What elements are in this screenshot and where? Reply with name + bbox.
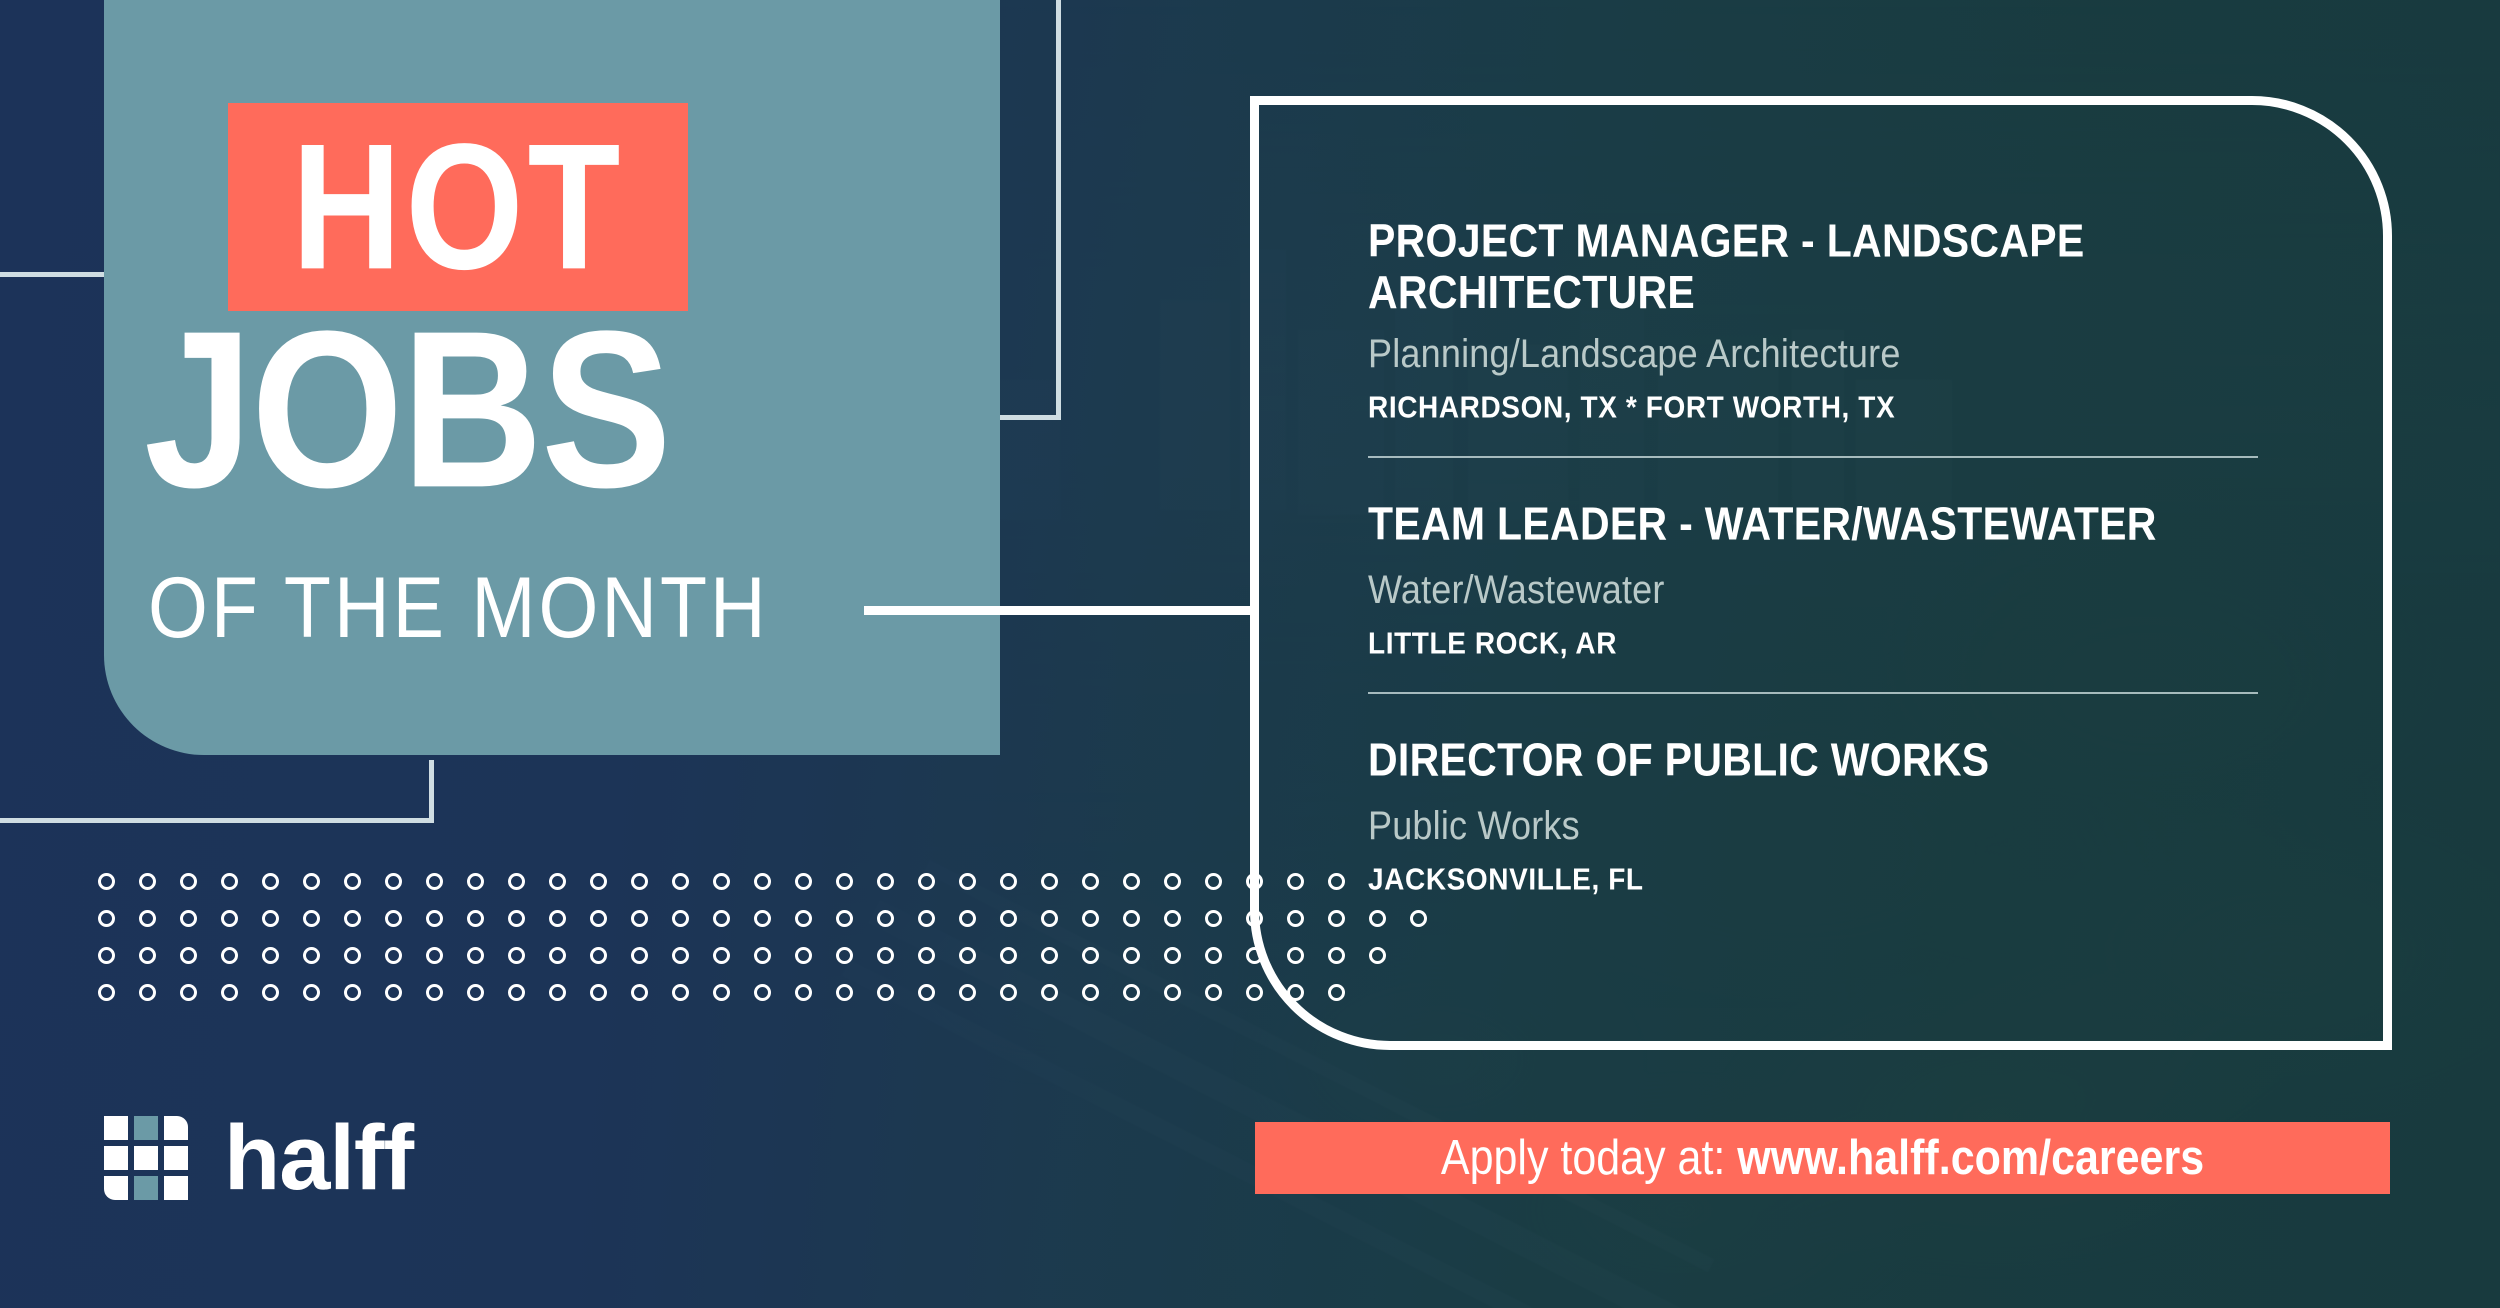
halff-grid-logo-icon [104,1116,188,1200]
decor-dot [918,910,935,927]
decor-dot [180,947,197,964]
decor-dot [590,910,607,927]
decor-dot [467,873,484,890]
decor-dot [221,873,238,890]
decor-dot [344,947,361,964]
decor-dot [508,947,525,964]
decor-dot [1246,984,1263,1001]
decor-dot [262,984,279,1001]
decor-dot [1205,947,1222,964]
job-department: Water/Wastewater [1368,570,2308,610]
apply-cta-text: Apply today at: www.halff.com/careers [1441,1133,2204,1182]
decor-dot [139,947,156,964]
decor-dot [139,910,156,927]
decor-dot [508,984,525,1001]
decor-dot [221,947,238,964]
decor-dot [1123,984,1140,1001]
job-listing-item[interactable]: TEAM LEADER - WATER/WASTEWATER Water/Was… [1368,498,2308,656]
decor-dot [631,947,648,964]
job-location: LITTLE ROCK, AR [1368,628,2308,659]
decor-dot [385,947,402,964]
decor-dot [918,873,935,890]
decor-dot [836,947,853,964]
job-listing-item[interactable]: DIRECTOR OF PUBLIC WORKS Public Works JA… [1368,734,2308,892]
decor-dot [1041,910,1058,927]
decor-dot [1164,873,1181,890]
hot-badge: HOT [228,103,688,311]
decor-dot [877,984,894,1001]
decor-dot [672,910,689,927]
decor-dot [426,947,443,964]
decor-dot [713,984,730,1001]
decor-dot [754,873,771,890]
decor-dot [549,910,566,927]
hot-jobs-poster: HOT JOBS OF THE MONTH PROJECT MANAGER - … [0,0,2500,1308]
decor-dot [1205,873,1222,890]
job-listing-item[interactable]: PROJECT MANAGER - LANDSCAPE ARCHITECTURE… [1368,215,2308,420]
decor-dot [344,984,361,1001]
decor-dot [1082,910,1099,927]
decor-dot [754,910,771,927]
decor-dot [836,910,853,927]
decor-dot [672,873,689,890]
apply-cta-prefix: Apply today at: [1441,1130,1737,1185]
decor-dot [262,910,279,927]
decor-line-top-right-h [1000,415,1061,420]
decor-dot [590,873,607,890]
job-department: Planning/Landscape Architecture [1368,334,2308,374]
decor-dot [549,873,566,890]
decor-line-top-right-v [1056,0,1061,420]
decor-dot [180,910,197,927]
decor-dot [959,873,976,890]
decor-dot [98,873,115,890]
decor-dot [959,947,976,964]
decor-dot [1205,984,1222,1001]
decor-dot-row [98,984,1451,1001]
decor-dot [672,947,689,964]
decor-dot-row [98,947,1451,964]
decor-dot [1123,873,1140,890]
decor-dot [98,984,115,1001]
decor-line-left-top [0,272,104,277]
decor-dot [98,947,115,964]
decor-dot [631,873,648,890]
decor-dot [508,873,525,890]
decor-dot [959,910,976,927]
decor-dot-row [98,873,1451,890]
job-listings: PROJECT MANAGER - LANDSCAPE ARCHITECTURE… [1368,215,2308,892]
decor-connector-line [864,606,1254,615]
decor-dot [549,947,566,964]
decor-dot [467,984,484,1001]
decor-dot [590,984,607,1001]
job-title: DIRECTOR OF PUBLIC WORKS [1368,734,2308,786]
decor-dot [713,947,730,964]
decor-dot [303,873,320,890]
decor-dot [180,873,197,890]
decor-dot [1082,947,1099,964]
decor-dot-row [98,910,1451,927]
job-title: TEAM LEADER - WATER/WASTEWATER [1368,498,2308,550]
decor-dot [713,910,730,927]
apply-cta-banner[interactable]: Apply today at: www.halff.com/careers [1255,1122,2390,1194]
decor-dot [836,984,853,1001]
job-location: JACKSONVILLE, FL [1368,864,2308,895]
decor-dot [1000,910,1017,927]
decor-dot [1164,984,1181,1001]
decor-dot [221,984,238,1001]
hot-label: HOT [292,117,625,296]
decor-dot [262,947,279,964]
decor-dot [385,873,402,890]
decor-dot [918,947,935,964]
halff-logo[interactable]: halff [104,1112,413,1204]
decor-dot [877,873,894,890]
decor-line-left-bottom-h [0,818,434,823]
decor-dot [139,984,156,1001]
decor-dot [467,910,484,927]
decor-dot [877,910,894,927]
decor-dot [1082,984,1099,1001]
decor-dot [385,984,402,1001]
decor-dot [959,984,976,1001]
decor-dot [426,910,443,927]
apply-cta-url: www.halff.com/careers [1737,1130,2204,1185]
decor-dot [754,947,771,964]
decor-dot [918,984,935,1001]
decor-dot [1000,947,1017,964]
job-department: Public Works [1368,806,2308,846]
decor-dot [549,984,566,1001]
decor-dot [1000,873,1017,890]
decor-dot [1041,984,1058,1001]
decor-dot [1164,947,1181,964]
decor-dot [1041,947,1058,964]
decor-dot [385,910,402,927]
decor-dot [508,910,525,927]
job-location: RICHARDSON, TX * FORT WORTH, TX [1368,392,2308,423]
decor-dot [1164,910,1181,927]
decor-dot [426,984,443,1001]
decor-dot [1082,873,1099,890]
decor-dot [1123,910,1140,927]
decor-dot [590,947,607,964]
decor-dot [795,947,812,964]
decor-dot [795,984,812,1001]
decor-dot [836,873,853,890]
job-separator [1368,456,2258,458]
decor-dot-grid [98,873,1451,1021]
decor-dot [1041,873,1058,890]
decor-dot [344,910,361,927]
decor-dot [262,873,279,890]
decor-dot [631,984,648,1001]
decor-dot [754,984,771,1001]
decor-line-left-bottom-v [429,760,434,823]
decor-dot [303,947,320,964]
decor-dot [221,910,238,927]
decor-dot [426,873,443,890]
decor-dot [877,947,894,964]
halff-wordmark: halff [224,1112,413,1204]
job-separator [1368,692,2258,694]
decor-dot [344,873,361,890]
decor-dot [180,984,197,1001]
of-the-month-label: OF THE MONTH [148,565,769,651]
decor-dot [1000,984,1017,1001]
decor-dot [303,984,320,1001]
decor-dot [139,873,156,890]
decor-dot [795,873,812,890]
decor-dot [1123,947,1140,964]
decor-dot [672,984,689,1001]
decor-dot [467,947,484,964]
decor-dot [1205,910,1222,927]
decor-dot [713,873,730,890]
jobs-label: JOBS [144,305,670,515]
decor-dot [303,910,320,927]
decor-dot [631,910,648,927]
decor-dot [795,910,812,927]
decor-dot [98,910,115,927]
job-title: PROJECT MANAGER - LANDSCAPE ARCHITECTURE [1368,215,2308,319]
